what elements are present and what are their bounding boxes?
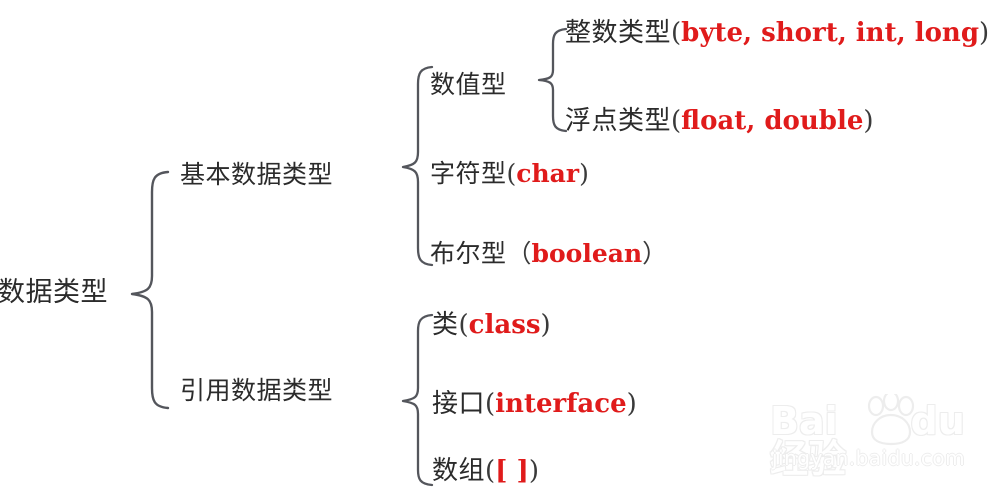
brace-reference-types bbox=[400, 312, 434, 488]
node-numeric-label: 数值型 bbox=[430, 70, 507, 99]
node-interface-type: 接口(interface) bbox=[432, 391, 637, 417]
watermark-brand-du: du bbox=[911, 399, 965, 443]
node-primitive-data-type: 基本数据类型 bbox=[180, 162, 333, 187]
node-array-type: 数组([ ]) bbox=[432, 458, 539, 484]
node-class-close-paren: ) bbox=[541, 310, 551, 340]
node-array-close-paren: ) bbox=[529, 456, 539, 486]
node-boolean-close-paren: ） bbox=[642, 239, 667, 268]
node-integer-close-paren: ) bbox=[979, 18, 989, 48]
brace-primitive-types bbox=[400, 64, 434, 268]
node-character-keyword: char bbox=[516, 159, 579, 188]
node-character-type: 字符型(char) bbox=[430, 161, 589, 186]
node-floatingpoint-keyword: float, double bbox=[681, 106, 863, 136]
baidu-jingyan-watermark: Bai..du经验 jingyan.baidu.com bbox=[770, 400, 995, 480]
node-character-open-paren: ( bbox=[507, 159, 517, 188]
node-numeric-type: 数值型 bbox=[430, 72, 507, 97]
node-integer-type: 整数类型(byte, short, int, long) bbox=[565, 20, 989, 46]
watermark-url: jingyan.baidu.com bbox=[772, 448, 965, 468]
brace-root bbox=[128, 168, 170, 412]
paw-print-icon bbox=[862, 394, 924, 446]
node-floatingpoint-type: 浮点类型(float, double) bbox=[565, 108, 874, 134]
node-character-label: 字符型 bbox=[430, 159, 507, 188]
node-boolean-type: 布尔型（boolean） bbox=[430, 241, 667, 266]
watermark-brand-cn: 经验 bbox=[770, 437, 846, 481]
brace-numeric-types bbox=[536, 26, 568, 134]
node-floatingpoint-open-paren: ( bbox=[671, 106, 681, 136]
node-array-label: 数组 bbox=[432, 456, 485, 486]
node-primitive-label: 基本数据类型 bbox=[180, 160, 333, 189]
node-class-open-paren: ( bbox=[459, 310, 469, 340]
node-boolean-open-paren: （ bbox=[507, 239, 532, 268]
node-root-label: 数据类型 bbox=[0, 277, 108, 308]
node-boolean-label: 布尔型 bbox=[430, 239, 507, 268]
node-interface-label: 接口 bbox=[432, 389, 485, 419]
node-integer-open-paren: ( bbox=[671, 18, 681, 48]
node-class-label: 类 bbox=[432, 310, 459, 340]
node-reference-data-type: 引用数据类型 bbox=[180, 378, 333, 403]
node-interface-open-paren: ( bbox=[485, 389, 495, 419]
node-root-data-type: 数据类型 bbox=[0, 279, 108, 306]
node-integer-label: 整数类型 bbox=[565, 18, 671, 48]
node-array-keyword: [ ] bbox=[495, 456, 529, 486]
diagram-canvas: 数据类型 基本数据类型 引用数据类型 数值型 字符型(char) 布尔型（boo… bbox=[0, 0, 1000, 496]
node-interface-keyword: interface bbox=[495, 389, 626, 419]
node-class-keyword: class bbox=[469, 310, 541, 340]
node-integer-keyword: byte, short, int, long bbox=[681, 18, 979, 48]
node-class-type: 类(class) bbox=[432, 312, 551, 338]
node-reference-label: 引用数据类型 bbox=[180, 376, 333, 405]
node-floatingpoint-close-paren: ) bbox=[863, 106, 873, 136]
node-character-close-paren: ) bbox=[579, 159, 589, 188]
watermark-brand: Bai..du经验 bbox=[770, 402, 995, 478]
node-floatingpoint-label: 浮点类型 bbox=[565, 106, 671, 136]
watermark-brand-bai: Bai bbox=[770, 399, 838, 443]
node-boolean-keyword: boolean bbox=[532, 239, 643, 268]
node-interface-close-paren: ) bbox=[627, 389, 637, 419]
node-array-open-paren: ( bbox=[485, 456, 495, 486]
